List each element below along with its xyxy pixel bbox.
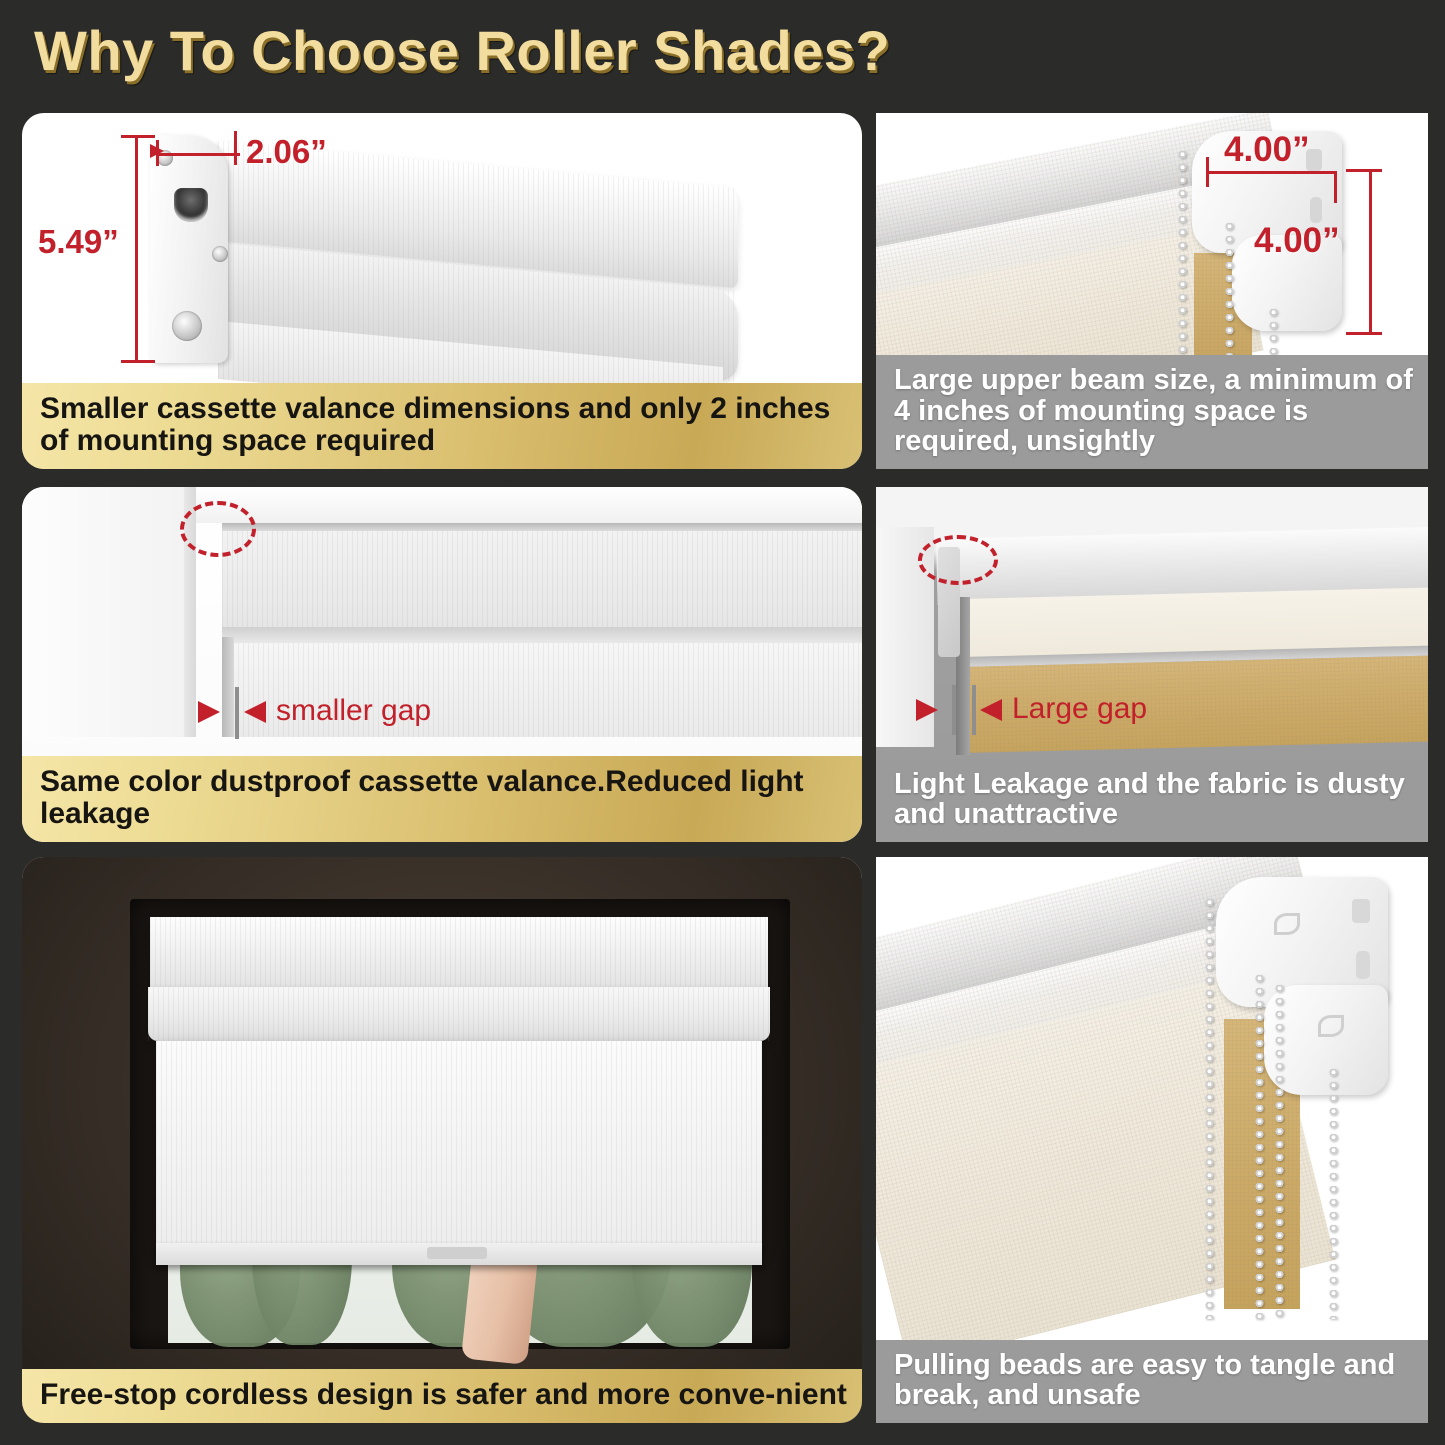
highlight-ellipse <box>180 501 256 557</box>
highlight-ellipse <box>918 535 998 585</box>
dim-tick-top <box>121 135 155 138</box>
gap-marker <box>952 685 956 735</box>
bracket-notch <box>1356 951 1370 979</box>
panel-pulling-beads: Pulling beads are easy to tangle and bre… <box>876 857 1428 1423</box>
bracket-notch <box>1352 899 1370 923</box>
dim-tick-top <box>1346 169 1382 172</box>
height-dimension-label: 5.49” <box>38 223 119 261</box>
panel-upper-beam-dimensions: 4.00” 4.00” Large upper beam size, a min… <box>876 113 1428 469</box>
dim-line-width <box>1206 171 1337 174</box>
page-title: Why To Choose Roller Shades? <box>34 18 890 83</box>
valance-edge <box>222 523 862 531</box>
width-dimension-label: 2.06” <box>246 133 327 171</box>
window-casing-left <box>22 487 192 737</box>
dim-tick-bottom <box>121 360 155 363</box>
dim-tick-bottom <box>1346 332 1382 335</box>
infographic-page: Why To Choose Roller Shades? 2.06” 5.49” <box>0 0 1445 1445</box>
bead-chain <box>1274 985 1285 1319</box>
bracket-emblem-icon <box>1274 913 1300 935</box>
window-casing-top <box>196 487 862 523</box>
arrow-left-icon <box>980 699 1002 721</box>
gap-label: smaller gap <box>276 694 431 728</box>
dim-line-width <box>156 153 240 156</box>
screw-icon <box>212 246 228 262</box>
panel-6-image <box>876 857 1428 1423</box>
panel-2-caption: Large upper beam size, a minimum of 4 in… <box>876 355 1428 469</box>
panel-6-caption: Pulling beads are easy to tangle and bre… <box>876 1340 1428 1423</box>
panel-cordless-design: Free-stop cordless design is safer and m… <box>22 857 862 1423</box>
shade-roller <box>148 987 770 1041</box>
bracket-emblem-icon <box>1318 1015 1344 1037</box>
valance-bottom-lip <box>222 627 862 643</box>
shade-pull-tab <box>427 1247 487 1259</box>
arrow-right-icon <box>150 144 164 158</box>
bracket-notch <box>1310 197 1322 223</box>
height-dimension-label: 4.00” <box>1254 221 1340 261</box>
bead-chain <box>1254 975 1265 1319</box>
gap-marker <box>972 685 976 735</box>
dim-line-height <box>1369 169 1372 335</box>
panel-3-caption: Same color dustproof cassette valance.Re… <box>22 756 862 842</box>
shade-valance <box>150 917 768 989</box>
arrow-left-icon <box>244 701 266 723</box>
bead-chain <box>1328 1069 1339 1319</box>
panel-cassette-dimensions: 2.06” 5.49” Smaller cassette valance dim… <box>22 113 862 469</box>
arrow-right-icon <box>916 699 938 721</box>
panel-light-leakage: Large gap Light Leakage and the fabric i… <box>876 487 1428 842</box>
panel-4-caption: Light Leakage and the fabric is dusty an… <box>876 759 1428 842</box>
panel-1-caption: Smaller cassette valance dimensions and … <box>22 383 862 469</box>
cassette-slot <box>174 188 208 222</box>
dim-line-height <box>135 135 138 363</box>
width-dimension-label: 4.00” <box>1224 130 1310 170</box>
gap-label: Large gap <box>1012 692 1147 726</box>
gap-marker <box>235 687 239 739</box>
screw-icon <box>172 311 202 341</box>
panel-dustproof-valance: smaller gap Same color dustproof cassett… <box>22 487 862 842</box>
dim-tick-right <box>234 131 237 165</box>
panel-5-image <box>22 857 862 1423</box>
valance-face <box>222 531 862 627</box>
arrow-right-icon <box>198 701 220 723</box>
fabric-edge <box>222 637 234 737</box>
dim-tick-right <box>1334 171 1337 203</box>
bead-chain <box>1204 899 1215 1319</box>
panel-5-caption: Free-stop cordless design is safer and m… <box>22 1369 862 1423</box>
shade-fabric-body <box>156 1041 762 1251</box>
